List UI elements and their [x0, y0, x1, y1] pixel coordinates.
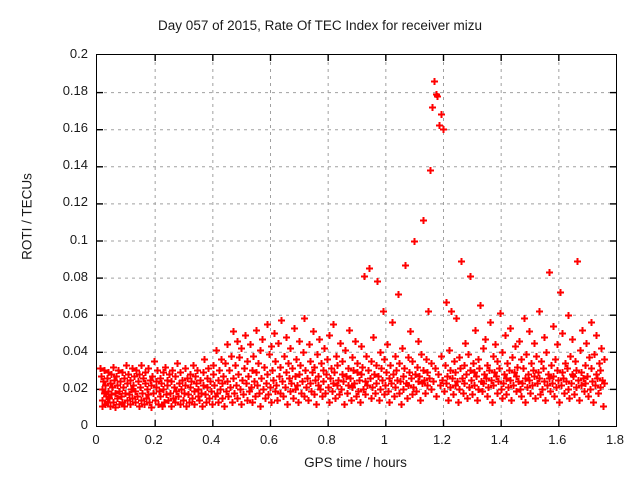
- y-tick-label: 0.16: [18, 120, 88, 135]
- x-tick-label: 0.4: [181, 432, 241, 447]
- x-tick-label: 1.2: [412, 432, 472, 447]
- x-tick-label: 1: [354, 432, 414, 447]
- y-tick-label: 0: [18, 417, 88, 432]
- plot-area: [96, 54, 617, 427]
- y-tick-label: 0.04: [18, 343, 88, 358]
- page-title: Day 057 of 2015, Rate Of TEC Index for r…: [0, 18, 640, 33]
- x-tick-label: 0.8: [297, 432, 357, 447]
- y-tick-label: 0.12: [18, 194, 88, 209]
- y-tick-label: 0.06: [18, 306, 88, 321]
- y-tick-label: 0.14: [18, 157, 88, 172]
- x-tick-label: 0: [66, 432, 126, 447]
- x-tick-label: 1.4: [470, 432, 530, 447]
- x-tick-label: 0.2: [124, 432, 184, 447]
- x-tick-label: 0.6: [239, 432, 299, 447]
- y-tick-label: 0.2: [18, 46, 88, 61]
- x-tick-label: 1.6: [527, 432, 587, 447]
- y-tick-label: 0.02: [18, 380, 88, 395]
- chart-figure: Day 057 of 2015, Rate Of TEC Index for r…: [0, 0, 640, 480]
- y-tick-label: 0.1: [18, 232, 88, 247]
- x-axis-label: GPS time / hours: [96, 455, 615, 470]
- y-tick-label: 0.18: [18, 83, 88, 98]
- y-tick-label: 0.08: [18, 269, 88, 284]
- data-points-layer: [97, 55, 616, 426]
- x-tick-label: 1.8: [585, 432, 640, 447]
